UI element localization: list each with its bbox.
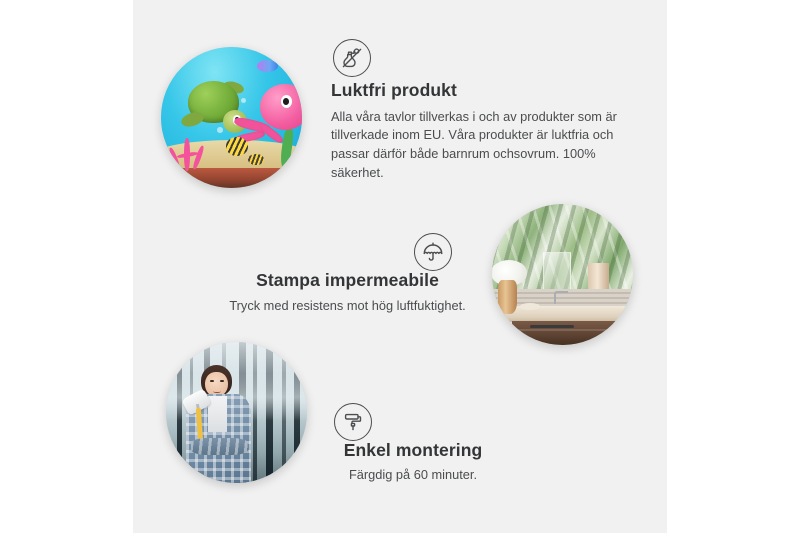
bathroom-tropical-wallpaper [492,204,633,345]
feature-text-easy-installation: Enkel montering Färgdig på 60 minuter. [268,440,558,484]
person-smile [213,389,221,392]
feature-body: Alla våra tavlor tillverkas i och av pro… [331,108,619,182]
feature-text-waterproof-print: Stampa impermeabile Tryck med resistens … [205,270,490,315]
cabinet-handle-icon [530,325,574,328]
person-crossed-arms [191,438,247,455]
pink-coral-icon [169,129,217,171]
sea-floor-strip [161,168,302,188]
feature-heading: Stampa impermeabile [205,270,490,292]
umbrella-icon [414,233,452,271]
paint-roller-icon [334,403,372,441]
feature-heading: Enkel montering [268,440,558,462]
feature-image-odourless-product [161,47,302,188]
copper-vase [498,280,518,314]
feature-heading: Luktfri produkt [331,80,619,102]
feature-text-odourless-product: Luktfri produkt Alla våra tavlor tillver… [331,80,619,182]
octopus-eye [281,95,292,108]
underwater-cartoon-scene [161,47,302,188]
feature-body: Tryck med resistens mot hög luftfuktighe… [205,297,490,316]
faucet-icon [554,291,568,304]
yellow-fish-icon [226,137,249,155]
bubble-icon [217,127,223,133]
wood-vanity-cabinet [512,321,633,345]
feature-image-waterproof-print [492,204,633,345]
feature-body: Färgdig på 60 minuter. [268,466,558,485]
cabinet-seam [512,329,633,331]
soap-dish [520,303,540,310]
bubble-icon [241,98,246,103]
no-spray-bottle-icon [333,39,371,77]
cabinet-handle-icon [616,331,619,341]
infographic-root: Luktfri produkt Alla våra tavlor tillver… [0,0,800,533]
person-inner-shirt [208,396,226,433]
